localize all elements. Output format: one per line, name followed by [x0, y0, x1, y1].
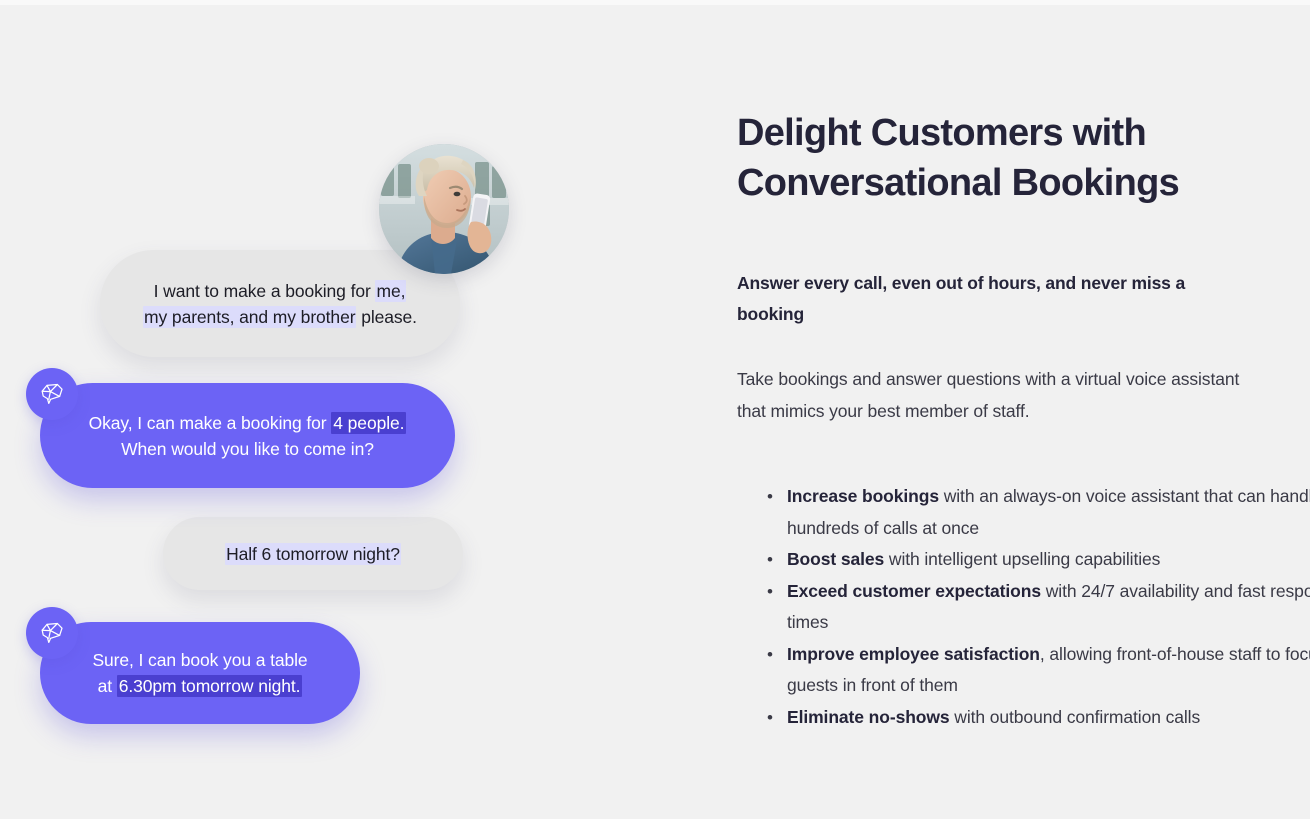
- chat-gem-icon: [38, 619, 66, 647]
- chat-text: at: [98, 676, 117, 696]
- list-item-label: Boost sales: [787, 549, 884, 569]
- list-item-label: Eliminate no-shows: [787, 707, 950, 727]
- avatar: [379, 144, 509, 274]
- chat-text: I want to make a booking for: [154, 281, 376, 301]
- list-item-label: Improve employee satisfaction: [787, 644, 1040, 664]
- chat-text-highlight: 6.30pm tomorrow night.: [117, 675, 303, 697]
- list-item: Eliminate no-shows with outbound confirm…: [787, 702, 1310, 734]
- list-item: Increase bookings with an always-on voic…: [787, 481, 1310, 544]
- chat-bubble-user-2: Half 6 tomorrow night?: [163, 517, 463, 590]
- bot-avatar-badge-2: [26, 607, 78, 659]
- chat-illustration: I want to make a booking for me, my pare…: [0, 0, 700, 819]
- bot-avatar-badge-1: [26, 368, 78, 420]
- page-title: Delight Customers with Conversational Bo…: [737, 108, 1297, 208]
- chat-line: When would you like to come in?: [74, 436, 421, 462]
- list-item-text: with outbound confirmation calls: [950, 707, 1201, 727]
- list-item-text: with intelligent upselling capabilities: [884, 549, 1160, 569]
- chat-text-highlight: my parents, and my brother: [143, 306, 356, 328]
- lede-paragraph: Take bookings and answer questions with …: [737, 363, 1247, 427]
- chat-text-highlight: 4 people.: [331, 412, 406, 434]
- chat-text-highlight: Half 6 tomorrow night?: [225, 543, 401, 565]
- chat-line: Sure, I can book you a table: [74, 647, 326, 673]
- chat-bubble-user-1: I want to make a booking for me, my pare…: [100, 250, 460, 357]
- list-item: Exceed customer expectations with 24/7 a…: [787, 576, 1310, 639]
- chat-text-highlight: me,: [375, 280, 406, 302]
- chat-text: Okay, I can make a booking for: [89, 413, 332, 433]
- chat-bubble-bot-2: Sure, I can book you a table at 6.30pm t…: [40, 622, 360, 724]
- list-item-label: Exceed customer expectations: [787, 581, 1041, 601]
- chat-line: I want to make a booking for me,: [134, 278, 426, 304]
- marketing-section: I want to make a booking for me, my pare…: [0, 0, 1310, 819]
- benefits-list: Increase bookings with an always-on voic…: [765, 481, 1310, 733]
- list-item: Boost sales with intelligent upselling c…: [787, 544, 1310, 576]
- chat-line: at 6.30pm tomorrow night.: [74, 673, 326, 699]
- chat-line: Okay, I can make a booking for 4 people.: [74, 410, 421, 436]
- chat-bubble-bot-1: Okay, I can make a booking for 4 people.…: [40, 383, 455, 488]
- subheading: Answer every call, even out of hours, an…: [737, 268, 1247, 330]
- list-item-label: Increase bookings: [787, 486, 939, 506]
- list-item: Improve employee satisfaction, allowing …: [787, 639, 1310, 702]
- copy-column: Delight Customers with Conversational Bo…: [737, 0, 1310, 819]
- chat-gem-icon: [38, 380, 66, 408]
- chat-line: Half 6 tomorrow night?: [197, 541, 429, 567]
- chat-line: my parents, and my brother please.: [134, 304, 426, 330]
- chat-text: please.: [356, 307, 417, 327]
